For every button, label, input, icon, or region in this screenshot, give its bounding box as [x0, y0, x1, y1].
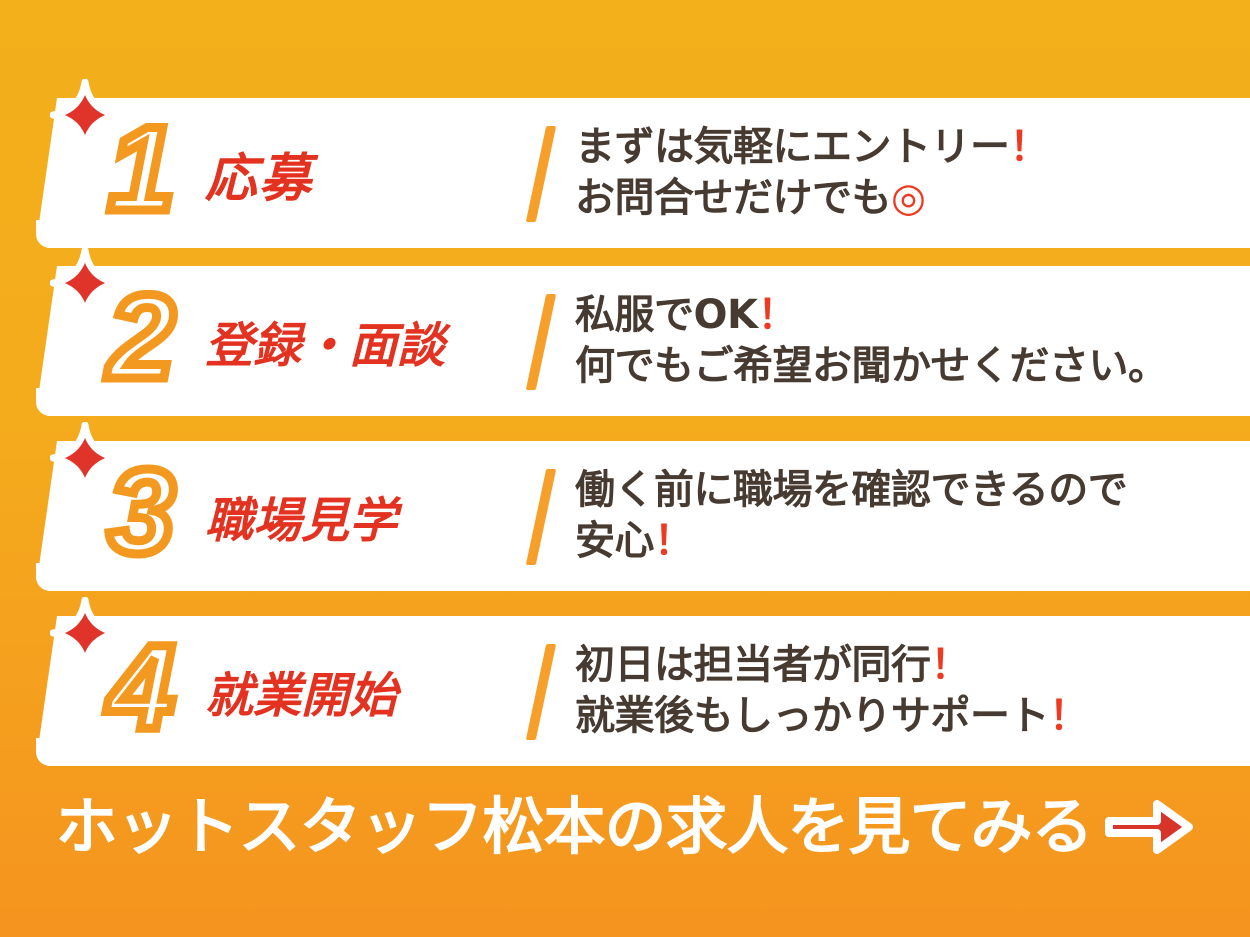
step-label: 就業開始 — [205, 616, 525, 766]
step-description-line: まずは気軽にエントリー！ — [575, 122, 1245, 173]
step-label: 応募 — [205, 98, 525, 248]
step-description-line: 初日は担当者が同行！ — [575, 640, 1245, 691]
step-description-line: 安心！ — [575, 516, 1245, 567]
step-description: まずは気軽にエントリー！ お問合せだけでも◎ — [575, 98, 1245, 248]
step-card-corner — [36, 220, 76, 248]
steps-list: 1 応募 まずは気軽にエントリー！ お問合せだけでも◎ 2 登録・面談 私服でO… — [0, 98, 1250, 766]
step-description-line: 働く前に職場を確認できるので — [575, 465, 1245, 516]
step-row[interactable]: 2 登録・面談 私服でOK！ 何でもご希望お聞かせください。 — [0, 266, 1250, 416]
double-circle-icon: ◎ — [891, 175, 925, 221]
step-description-line: 就業後もしっかりサポート！ — [575, 691, 1245, 742]
step-card-corner — [36, 388, 76, 416]
step-description: 働く前に職場を確認できるので 安心！ — [575, 441, 1245, 591]
exclamation-mark: ！ — [1049, 693, 1089, 739]
cta-label: ホットスタッフ松本の求人を見てみる — [55, 796, 1092, 858]
step-description-line: お問合せだけでも◎ — [575, 173, 1245, 224]
step-description-line: 私服でOK！ — [575, 290, 1245, 341]
arrow-right-icon[interactable] — [1103, 791, 1195, 863]
cta-link[interactable]: ホットスタッフ松本の求人を見てみる — [0, 772, 1250, 882]
step-row[interactable]: 1 応募 まずは気軽にエントリー！ お問合せだけでも◎ — [0, 98, 1250, 248]
exclamation-mark: ！ — [758, 292, 798, 338]
step-label: 登録・面談 — [205, 266, 525, 416]
step-description: 私服でOK！ 何でもご希望お聞かせください。 — [575, 266, 1245, 416]
step-row[interactable]: 3 職場見学 働く前に職場を確認できるので 安心！ — [0, 441, 1250, 591]
step-row[interactable]: 4 就業開始 初日は担当者が同行！ 就業後もしっかりサポート！ — [0, 616, 1250, 766]
step-description-line: 何でもご希望お聞かせください。 — [575, 341, 1245, 392]
exclamation-mark: ！ — [931, 642, 971, 688]
step-card-corner — [36, 563, 76, 591]
exclamation-mark: ！ — [1010, 124, 1050, 170]
recruitment-steps-banner: 1 応募 まずは気軽にエントリー！ お問合せだけでも◎ 2 登録・面談 私服でO… — [0, 0, 1250, 937]
exclamation-mark: ！ — [654, 518, 694, 564]
step-label: 職場見学 — [205, 441, 525, 591]
step-card-corner — [36, 738, 76, 766]
step-description: 初日は担当者が同行！ 就業後もしっかりサポート！ — [575, 616, 1245, 766]
